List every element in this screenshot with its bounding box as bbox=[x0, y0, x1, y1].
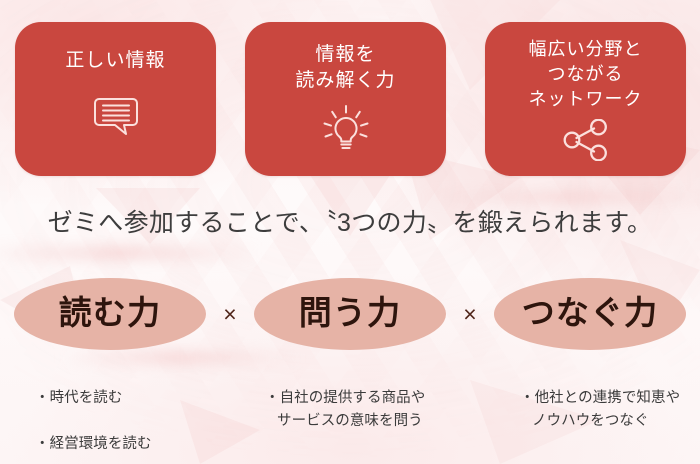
list-item: ・景気の先を読む bbox=[35, 456, 248, 464]
list-item: ・自社の提供する商品や サービスの意味を問う bbox=[265, 364, 506, 456]
list-item-continuation: ノウハウをつなぐ bbox=[520, 410, 700, 433]
share-network-icon bbox=[485, 112, 686, 176]
list-item-main: ・時代を読む bbox=[35, 390, 122, 406]
list-item: ・付加価値の創造 bbox=[520, 456, 700, 464]
feature-cards: 正しい情報 情報を 読み解く力 bbox=[0, 22, 700, 176]
list-item-continuation: サービスの意味を問う bbox=[265, 410, 506, 433]
feature-card-reading-information[interactable]: 情報を 読み解く力 bbox=[245, 22, 446, 176]
list-item: ・他社との連携で知恵や ノウハウをつなぐ bbox=[520, 364, 700, 456]
power-pill-read[interactable]: 読む力 bbox=[14, 278, 206, 350]
detail-column-connect: ・他社との連携で知恵や ノウハウをつなぐ ・付加価値の創造 bbox=[506, 364, 700, 464]
lightbulb-icon bbox=[245, 94, 446, 176]
three-powers-row: 読む力 × 問う力 × つなぐ力 bbox=[0, 277, 700, 351]
infographic-page: 正しい情報 情報を 読み解く力 bbox=[0, 0, 700, 464]
list-item-main: ・自社の提供する商品や bbox=[265, 390, 425, 406]
feature-card-broad-network[interactable]: 幅広い分野と つながる ネットワーク bbox=[485, 22, 686, 176]
feature-card-title: 正しい情報 bbox=[65, 48, 165, 74]
detail-column-question: ・自社の提供する商品や サービスの意味を問う ・自社の存在価値を問う ・会社の革… bbox=[248, 364, 506, 464]
power-pill-label: 読む力 bbox=[59, 298, 161, 331]
background-streak bbox=[420, 192, 700, 202]
list-item: ・自社の存在価値を問う bbox=[265, 456, 506, 464]
background-streak bbox=[0, 246, 260, 260]
list-item: ・経営環境を読む bbox=[35, 410, 248, 456]
power-pill-question[interactable]: 問う力 bbox=[254, 278, 446, 350]
detail-column-read: ・時代を読む ・経営環境を読む ・景気の先を読む bbox=[0, 364, 248, 464]
power-pill-label: つなぐ力 bbox=[522, 298, 659, 331]
detail-columns: ・時代を読む ・経営環境を読む ・景気の先を読む ・自社の提供する商品や サービ… bbox=[0, 364, 700, 464]
feature-card-correct-information[interactable]: 正しい情報 bbox=[15, 22, 216, 176]
feature-card-title: 情報を 読み解く力 bbox=[295, 42, 395, 94]
list-item: ・時代を読む bbox=[35, 364, 248, 410]
power-pill-label: 問う力 bbox=[299, 298, 401, 331]
feature-card-title: 幅広い分野と つながる ネットワーク bbox=[529, 37, 643, 112]
list-item-main: ・他社との連携で知恵や bbox=[520, 390, 680, 406]
headline: ゼミへ参加することで、〝3つの力〟を鍛えられます。 bbox=[0, 206, 700, 240]
list-item-main: ・経営環境を読む bbox=[35, 436, 152, 452]
multiply-separator-icon: × bbox=[446, 303, 494, 326]
speech-bubble-icon bbox=[15, 74, 216, 176]
power-pill-connect[interactable]: つなぐ力 bbox=[494, 278, 686, 350]
multiply-separator-icon: × bbox=[206, 303, 254, 326]
background-streak bbox=[60, 352, 300, 364]
